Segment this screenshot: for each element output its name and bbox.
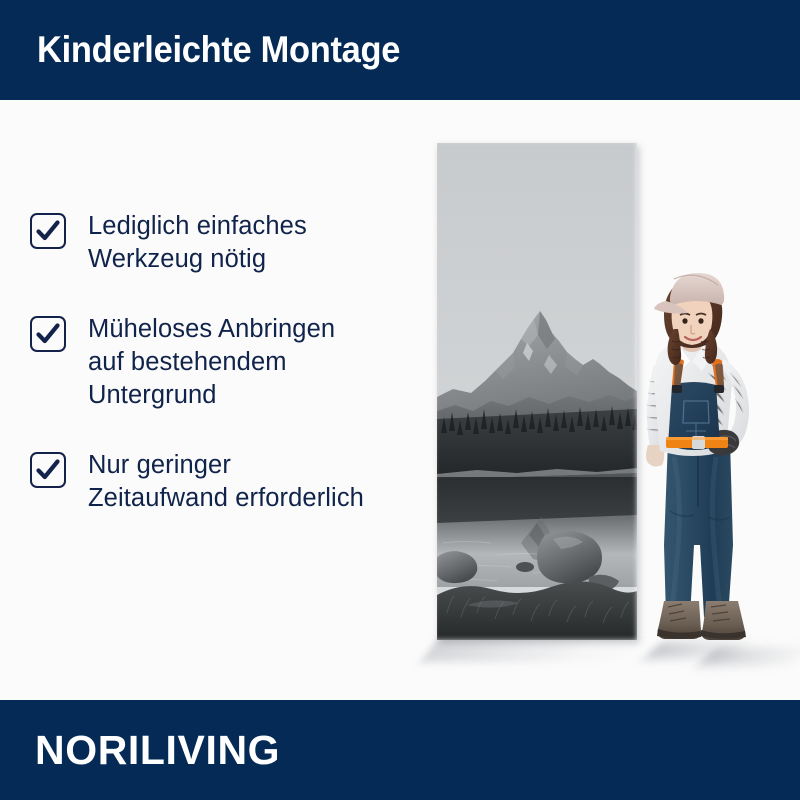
- footer-bar: NORILIVING: [0, 700, 800, 800]
- feature-item-label: Lediglich einfaches Werkzeug nötig: [88, 210, 307, 276]
- feature-item-3: Nur geringer Zeitaufwand erforderlich: [30, 449, 430, 515]
- page-title: Kinderleichte Montage: [37, 29, 400, 71]
- checkmark-icon: [30, 213, 66, 249]
- feature-list: Lediglich einfaches Werkzeug nötig Mühel…: [30, 210, 430, 552]
- brand-logo: NORILIVING: [35, 727, 280, 774]
- header-bar: Kinderleichte Montage: [0, 0, 800, 100]
- feature-item-2: Müheloses Anbringen auf bestehendem Unte…: [30, 313, 430, 412]
- feature-item-label: Müheloses Anbringen auf bestehendem Unte…: [88, 313, 335, 412]
- person-illustration: [612, 245, 800, 660]
- feature-item-1: Lediglich einfaches Werkzeug nötig: [30, 210, 430, 276]
- product-scene: [400, 120, 800, 700]
- feature-item-label: Nur geringer Zeitaufwand erforderlich: [88, 449, 364, 515]
- checkmark-icon: [30, 452, 66, 488]
- checkmark-icon: [30, 316, 66, 352]
- product-canvas-print: [437, 143, 637, 640]
- infographic-page: Kinderleichte Montage Lediglich einfache…: [0, 0, 800, 800]
